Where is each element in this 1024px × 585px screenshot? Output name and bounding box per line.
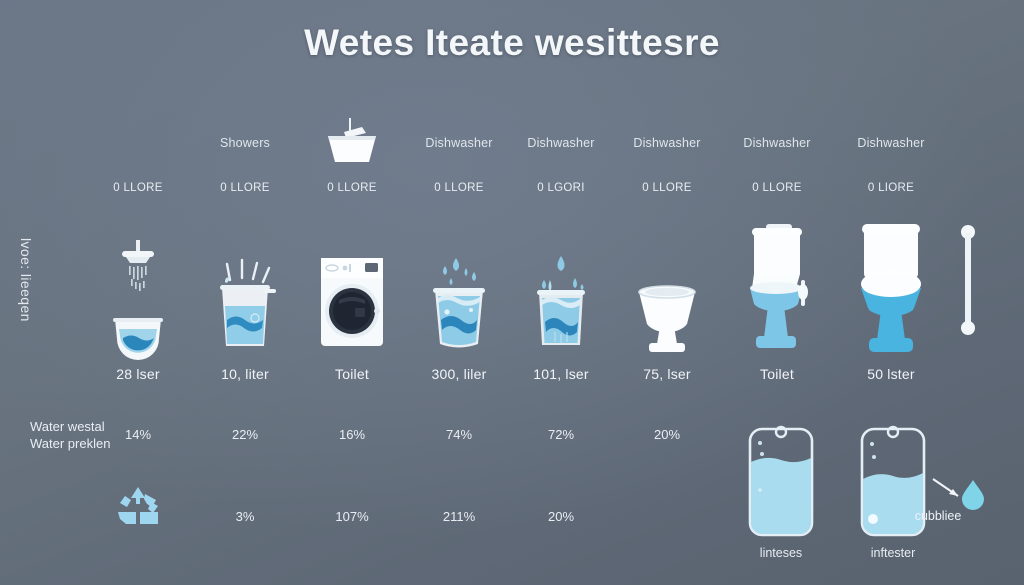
col-pct-b-4: 20%: [501, 509, 621, 524]
infographic-canvas: Wetes Iteate wesittesre lvoe: lieeqen Wa…: [0, 0, 1024, 585]
col-header-5: Dishwasher: [607, 136, 727, 150]
col-pct-b-1: 3%: [185, 509, 305, 524]
col-header-6: Dishwasher: [717, 136, 837, 150]
water-tumbler-icon: [531, 252, 591, 352]
col-sub-1: 0 LLORE: [185, 182, 305, 194]
droplet-label: cubbliee: [893, 509, 983, 523]
toilet-tank-icon: [744, 222, 810, 354]
water-tank-0: [748, 427, 814, 537]
water-droplet-icon: [959, 478, 987, 508]
tank-label-1: inftester: [823, 546, 963, 560]
col-sub-2: 0 LLORE: [292, 182, 412, 194]
toilet-bowl-icon: [633, 282, 701, 354]
col-pct-a-4: 72%: [501, 427, 621, 442]
vertical-rail-icon: [959, 224, 977, 336]
col-pct-a-5: 20%: [607, 427, 727, 442]
col-value-6: Toilet: [712, 366, 842, 382]
washing-machine-icon: [319, 258, 385, 348]
toilet-front-icon: [856, 222, 926, 354]
col-header-4: Dishwasher: [501, 136, 621, 150]
col-sub-7: 0 LIORE: [831, 182, 951, 194]
col-sub-0: 0 LLORE: [78, 182, 198, 194]
col-pct-a-1: 22%: [185, 427, 305, 442]
col-sub-4: 0 LGORI: [501, 182, 621, 194]
col-sub-5: 0 LLORE: [607, 182, 727, 194]
col-pct-a-0: 14%: [78, 427, 198, 442]
shower-head-icon: [108, 240, 168, 300]
water-glass-drops-icon: [427, 252, 491, 352]
recycle-icon: [114, 486, 162, 530]
page-title: Wetes Iteate wesittesre: [0, 22, 1024, 64]
col-header-7: Dishwasher: [831, 136, 951, 150]
col-pct-b-2: 107%: [292, 509, 412, 524]
water-bowl-icon: [109, 313, 167, 363]
bucket-water-icon: [212, 258, 278, 354]
col-value-7: 50 lster: [826, 366, 956, 382]
col-pct-a-2: 16%: [292, 427, 412, 442]
col-header-1: Showers: [185, 136, 305, 150]
row-label-usage-type: lvoe: lieeqen: [18, 238, 34, 388]
bathtub-icon: [316, 118, 388, 164]
col-sub-6: 0 LLORE: [717, 182, 837, 194]
